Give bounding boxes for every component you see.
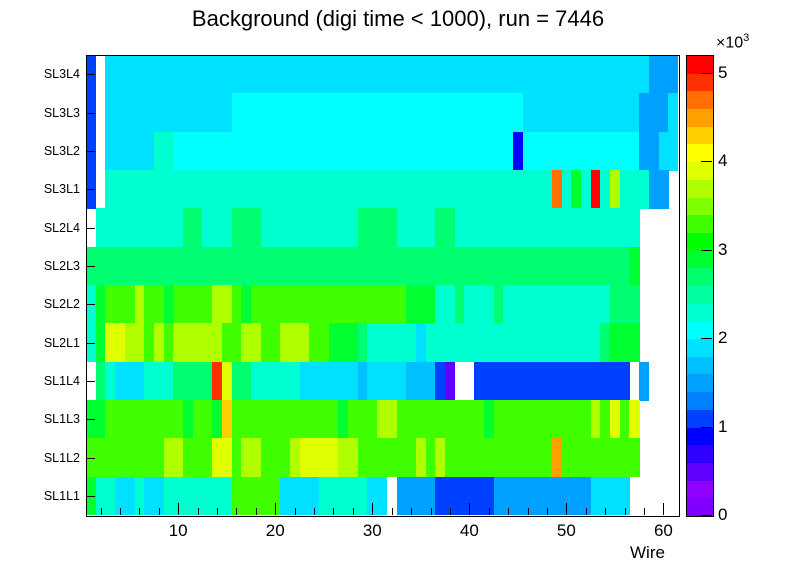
x-axis-tick (295, 508, 296, 515)
y-axis-label-sl2l4: SL2L4 (44, 221, 80, 235)
x-axis-tick (333, 508, 334, 515)
colorbar-segment (687, 445, 713, 463)
colorbar-tick-label: 4 (718, 151, 727, 171)
colorbar-segment (687, 409, 713, 427)
colorbar-segment (687, 232, 713, 250)
heatmap-cell (629, 285, 639, 324)
y-axis-tick (86, 419, 95, 420)
x-axis-tick (372, 503, 373, 515)
heatmap-cell (668, 132, 678, 171)
x-axis-tick (198, 508, 199, 515)
heatmap-cell (629, 247, 639, 286)
y-axis-tick (86, 74, 95, 75)
colorbar-tick (701, 338, 712, 339)
x-axis-tick (256, 508, 257, 515)
heatmap-cell (629, 438, 639, 477)
y-axis-tick (86, 266, 95, 267)
y-axis-label-sl1l2: SL1L2 (44, 451, 80, 465)
y-axis-label-sl3l3: SL3L3 (44, 106, 80, 120)
colorbar-segment (687, 498, 713, 516)
x-axis-tick (469, 503, 470, 515)
y-axis-tick (86, 343, 95, 344)
colorbar-segment (687, 356, 713, 374)
x-axis-tick (625, 508, 626, 515)
y-axis-label-sl3l1: SL3L1 (44, 182, 80, 196)
x-axis-tick (528, 508, 529, 515)
x-axis-tick-label: 40 (460, 521, 479, 541)
heatmap-cell (629, 323, 639, 362)
x-axis-tick (178, 503, 179, 515)
x-axis-tick-label: 20 (266, 521, 285, 541)
y-axis-tick (86, 381, 95, 382)
x-axis-tick (605, 508, 606, 515)
colorbar-segment (687, 339, 713, 357)
x-axis-tick (392, 508, 393, 515)
x-axis-tick (663, 503, 664, 515)
x-axis-tick (547, 508, 548, 515)
x-axis-tick (159, 508, 160, 515)
colorbar-tick-label: 0 (718, 505, 727, 525)
root-canvas: Background (digi time < 1000), run = 744… (0, 0, 796, 572)
x-axis-tick-label: 50 (557, 521, 576, 541)
x-axis-tick (217, 508, 218, 515)
y-axis-tick (86, 304, 95, 305)
colorbar-segment (687, 144, 713, 162)
x-axis-tick (644, 508, 645, 515)
x-axis-tick (353, 508, 354, 515)
page-title: Background (digi time < 1000), run = 744… (0, 6, 796, 32)
heatmap-cell (659, 170, 669, 209)
x-axis-tick (489, 508, 490, 515)
colorbar-exponent: ×103 (716, 32, 749, 52)
colorbar-tick-label: 2 (718, 328, 727, 348)
colorbar-segment (687, 480, 713, 498)
heatmap-cell (620, 362, 630, 401)
x-axis-tick (314, 508, 315, 515)
colorbar-segment (687, 215, 713, 233)
colorbar-tick-label: 3 (718, 240, 727, 260)
y-axis-label-sl1l4: SL1L4 (44, 374, 80, 388)
colorbar-tick (701, 515, 712, 516)
heatmap-cell (668, 93, 678, 132)
y-axis-tick (86, 458, 95, 459)
y-axis-label-sl2l2: SL2L2 (44, 297, 80, 311)
x-axis-tick (120, 508, 121, 515)
colorbar-segment (687, 91, 713, 109)
y-axis-label-sl1l3: SL1L3 (44, 412, 80, 426)
heatmap-cell (639, 362, 649, 401)
x-axis-tick (586, 508, 587, 515)
colorbar-tick (701, 161, 712, 162)
colorbar-segment (687, 303, 713, 321)
x-axis-tick-label: 30 (363, 521, 382, 541)
colorbar-segment (687, 197, 713, 215)
y-axis-tick (86, 113, 95, 114)
x-axis-tick-label: 10 (169, 521, 188, 541)
y-axis-tick (86, 151, 95, 152)
colorbar-tick-label: 5 (718, 63, 727, 83)
colorbar-segment (687, 392, 713, 410)
heatmap-cell (668, 55, 678, 94)
colorbar-segment (687, 321, 713, 339)
colorbar-segment (687, 462, 713, 480)
y-axis-label-sl2l3: SL2L3 (44, 259, 80, 273)
heatmap-cell (629, 208, 639, 247)
y-axis-label-sl2l1: SL2L1 (44, 336, 80, 350)
x-axis-tick (275, 503, 276, 515)
y-axis-label-sl1l1: SL1L1 (44, 489, 80, 503)
y-axis-label-sl3l2: SL3L2 (44, 144, 80, 158)
colorbar-segment (687, 427, 713, 445)
colorbar-tick (701, 73, 712, 74)
x-axis-tick (450, 508, 451, 515)
x-axis-tick (431, 508, 432, 515)
x-axis-tick-label: 60 (654, 521, 673, 541)
colorbar-segment (687, 162, 713, 180)
colorbar-segment (687, 374, 713, 392)
heatmap-cell (629, 400, 639, 439)
colorbar-segment (687, 55, 713, 73)
colorbar[interactable] (686, 55, 714, 517)
colorbar-segment (687, 126, 713, 144)
y-axis-tick (86, 496, 95, 497)
y-axis-label-sl3l4: SL3L4 (44, 67, 80, 81)
colorbar-tick (701, 250, 712, 251)
colorbar-tick-label: 1 (718, 417, 727, 437)
colorbar-segment (687, 179, 713, 197)
heatmap-plot-area[interactable] (86, 55, 678, 515)
colorbar-tick (701, 427, 712, 428)
x-axis-tick (236, 508, 237, 515)
x-axis-tick (508, 508, 509, 515)
colorbar-segment (687, 250, 713, 268)
x-axis-tick (411, 508, 412, 515)
y-axis-tick (86, 228, 95, 229)
colorbar-segment (687, 268, 713, 286)
heatmap-cell (377, 477, 387, 515)
colorbar-segment (687, 285, 713, 303)
x-axis-tick (139, 508, 140, 515)
x-axis-tick (101, 508, 102, 515)
x-axis-title: Wire (630, 543, 665, 563)
colorbar-segment (687, 73, 713, 91)
colorbar-segment (687, 109, 713, 127)
heatmap-cell (445, 362, 455, 401)
y-axis-tick (86, 189, 95, 190)
y-axis (0, 0, 82, 572)
x-axis-tick (566, 503, 567, 515)
